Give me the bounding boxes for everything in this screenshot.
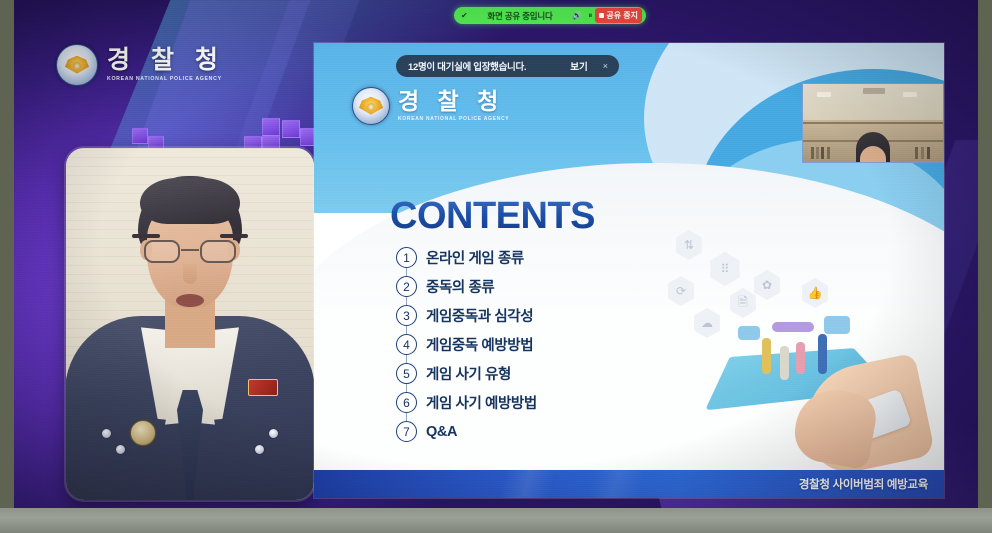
book (915, 147, 918, 159)
presenter-hair-front (140, 178, 240, 224)
list-item-number: 1 (396, 247, 417, 268)
ceiling-light-icon (903, 92, 917, 97)
stop-share-button[interactable]: 공유 중지 (595, 8, 642, 23)
presenter-video-tile[interactable] (66, 148, 314, 500)
slide-logo-ko: 경 찰 청 (398, 90, 509, 113)
book (816, 147, 819, 159)
list-item: 1 온라인 게임 종류 (396, 243, 696, 272)
book (811, 147, 814, 159)
share-status-text: 화면 공유 중입니다 (471, 10, 570, 22)
footer-chevrons (314, 470, 944, 498)
shelf-divider (803, 122, 943, 124)
phone-illustration (714, 310, 934, 470)
slide-police-logo: 경 찰 청 KOREAN NATIONAL POLICE AGENCY (352, 87, 509, 125)
photographed-monitor: 경 찰 청 KOREAN NATIONAL POLICE AGENCY (0, 0, 992, 533)
avatar-figure (780, 346, 789, 380)
presenter-brow-left (132, 234, 160, 238)
rank-insignia (269, 429, 278, 438)
presenter-brow-right (220, 234, 248, 238)
gear-icon: ✿ (752, 270, 782, 300)
avatar-figure (818, 334, 827, 374)
decor-block (132, 128, 148, 144)
decor-block (262, 118, 280, 136)
list-item: 2 중독의 종류 (396, 272, 696, 301)
pause-icon[interactable]: ⏸ (588, 12, 592, 20)
glasses-lens-left (144, 240, 180, 263)
search-pill (772, 322, 814, 332)
police-logo-en: KOREAN NATIONAL POLICE AGENCY (107, 76, 225, 82)
stop-square-icon (599, 13, 604, 18)
notification-message: 12명이 대기실에 입장했습니다. (408, 59, 558, 73)
participant-video-tile[interactable] (802, 83, 944, 163)
list-item-label: 게임 사기 예방방법 (426, 392, 537, 413)
avatar-figure (762, 338, 771, 374)
chat-bubble (738, 326, 760, 340)
decor-block (282, 120, 300, 138)
book (821, 147, 824, 159)
police-emblem-icon (352, 87, 390, 125)
close-icon[interactable]: × (600, 61, 611, 71)
list-item-label: 온라인 게임 종류 (426, 247, 524, 268)
rank-insignia (116, 445, 125, 454)
glasses-icon (144, 240, 236, 264)
share-icon: ✔ (461, 12, 468, 20)
list-item-number: 4 (396, 334, 417, 355)
thumbs-up-icon: 👍 (800, 278, 830, 308)
list-item: 7 Q&A (396, 417, 696, 446)
slide-footer: 경찰청 사이버범죄 예방교육 (314, 470, 944, 498)
police-emblem-icon (56, 44, 98, 86)
desk-surface (0, 508, 992, 533)
list-item-number: 6 (396, 392, 417, 413)
waiting-room-notification[interactable]: 12명이 대기실에 입장했습니다. 보기 × (396, 55, 619, 77)
ceiling-light-icon (817, 92, 831, 97)
list-item-label: 게임중독과 심각성 (426, 305, 533, 326)
book (921, 147, 924, 159)
page-title: CONTENTS (390, 195, 595, 238)
presenter-nose (183, 264, 197, 284)
list-item: 5 게임 사기 유형 (396, 359, 696, 388)
four-dots-icon: ⠿ (708, 252, 742, 286)
avatar-figure (796, 342, 805, 374)
list-item-number: 5 (396, 363, 417, 384)
list-item-label: Q&A (426, 424, 457, 440)
ceiling-light-icon (863, 88, 885, 94)
mute-icon[interactable]: 🔊 (572, 12, 582, 20)
presenter-mouth (176, 294, 204, 307)
name-patch (248, 379, 278, 396)
slide-logo-en: KOREAN NATIONAL POLICE AGENCY (398, 116, 509, 122)
glasses-bridge (181, 249, 199, 251)
rank-insignia (102, 429, 111, 438)
list-item-label: 중독의 종류 (426, 276, 494, 297)
list-item-label: 게임중독 예방방법 (426, 334, 533, 355)
police-logo-ko: 경 찰 청 (107, 48, 225, 73)
refresh-icon: ⟳ (666, 276, 696, 306)
monitor-bezel: 경 찰 청 KOREAN NATIONAL POLICE AGENCY (14, 0, 978, 514)
list-item: 3 게임중독과 심각성 (396, 301, 696, 330)
view-waiting-room-button[interactable]: 보기 (564, 59, 593, 73)
list-item: 4 게임중독 예방방법 (396, 330, 696, 359)
glasses-lens-right (200, 240, 236, 263)
list-item: 6 게임 사기 예방방법 (396, 388, 696, 417)
screen-share-status-bar[interactable]: ✔ 화면 공유 중입니다 🔊 ⏸ 공유 중지 (454, 7, 646, 24)
list-item-number: 7 (396, 421, 417, 442)
list-item-number: 3 (396, 305, 417, 326)
stop-share-label: 공유 중지 (606, 10, 638, 21)
left-police-logo: 경 찰 청 KOREAN NATIONAL POLICE AGENCY (56, 20, 306, 110)
book (827, 147, 830, 159)
uniform-badge-icon (130, 420, 156, 446)
chat-bubble (824, 316, 850, 334)
rank-insignia (255, 445, 264, 454)
book (927, 147, 930, 159)
list-item-number: 2 (396, 276, 417, 297)
transfer-arrows-icon: ⇅ (674, 230, 704, 260)
contents-list: 1 온라인 게임 종류 2 중독의 종류 3 게임중독과 심각성 4 게임중독 … (396, 243, 696, 446)
list-item-label: 게임 사기 유형 (426, 363, 511, 384)
